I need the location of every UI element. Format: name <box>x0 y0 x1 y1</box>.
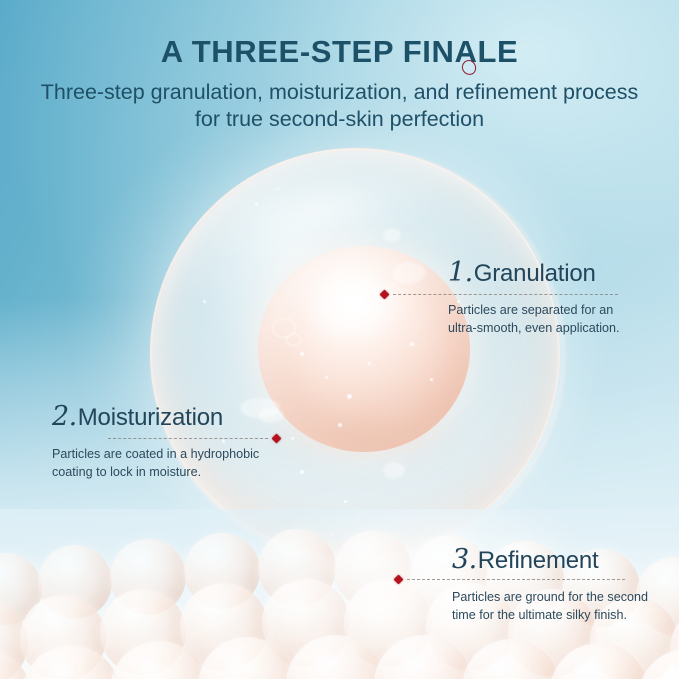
callout-step-3: 3.Refinement Particles are ground for th… <box>452 545 652 624</box>
step-2-name: Moisturization <box>78 404 223 431</box>
speck-7 <box>338 423 342 427</box>
speck-2 <box>325 376 328 379</box>
page-title: A THREE-STEP FINALE <box>0 34 679 70</box>
header: A THREE-STEP FINALE Three-step granulati… <box>0 34 679 133</box>
step-2-number: 2. <box>52 401 78 432</box>
speck-4 <box>368 362 371 365</box>
step-1-description: Particles are separated for an ultra-smo… <box>448 302 648 338</box>
step-2-heading: 2.Moisturization <box>52 402 262 432</box>
step-1-name: Granulation <box>474 260 596 287</box>
step-3-name: Refinement <box>478 547 599 574</box>
marker-dot-step-1 <box>380 289 390 299</box>
callout-step-1: 1.Granulation Particles are separated fo… <box>448 258 648 337</box>
speck-8 <box>291 437 294 440</box>
speck-14 <box>300 470 304 474</box>
speck-11 <box>203 300 206 303</box>
callout-step-2: 2.Moisturization Particles are coated in… <box>52 402 262 481</box>
product-infographic: A THREE-STEP FINALE Three-step granulati… <box>0 0 679 679</box>
marker-dot-step-2 <box>272 433 282 443</box>
speck-1 <box>300 352 304 356</box>
marker-dot-step-3 <box>394 574 404 584</box>
step-1-number: 1. <box>448 257 474 288</box>
speck-5 <box>410 342 414 346</box>
step-3-number: 3. <box>452 544 478 575</box>
droplet-ring-b <box>286 333 301 346</box>
step-3-heading: 3.Refinement <box>452 545 652 575</box>
speck-10 <box>277 188 279 190</box>
dust-1 <box>344 500 347 503</box>
speck-3 <box>347 394 352 399</box>
step-1-heading: 1.Granulation <box>448 258 648 288</box>
step-2-description: Particles are coated in a hydrophobic co… <box>52 446 262 482</box>
speck-6 <box>430 378 433 381</box>
page-subtitle: Three-step granulation, moisturization, … <box>40 79 640 133</box>
speck-9 <box>255 203 258 206</box>
step-3-description: Particles are ground for the second time… <box>452 589 652 625</box>
inner-pearl-shadow <box>262 396 468 466</box>
